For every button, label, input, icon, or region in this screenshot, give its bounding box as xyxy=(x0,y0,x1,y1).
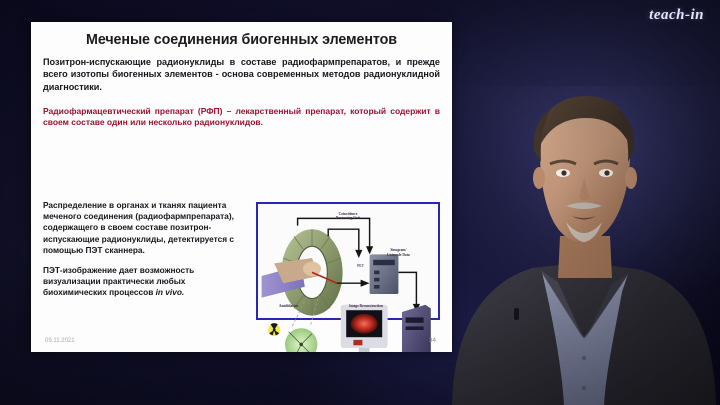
figure-label-annihilation: Annihilation xyxy=(279,304,298,308)
presentation-slide: Меченые соединения биогенных элементов П… xyxy=(31,22,452,352)
data-line xyxy=(398,272,416,304)
pet-diagram-graphic xyxy=(258,204,438,352)
shirt-button xyxy=(582,356,586,360)
tower-drive-bay xyxy=(406,326,424,330)
monitor-indicator xyxy=(353,340,362,345)
shirt-button xyxy=(582,386,586,390)
arrow-head xyxy=(355,250,362,258)
lapel-microphone xyxy=(514,308,519,320)
bullet-scanner-distribution: Распределение в органах и тканях пациент… xyxy=(43,200,248,256)
arrow-head xyxy=(366,246,373,254)
slide-footer-page-number: 34 xyxy=(429,337,436,344)
ear-right xyxy=(625,167,637,189)
slide-definition-paragraph: Радиофармацевтический препарат (РФП) – л… xyxy=(43,106,440,129)
pupil-left xyxy=(561,170,566,175)
slide-title: Меченые соединения биогенных элементов xyxy=(31,22,452,48)
pet-brain-image xyxy=(351,314,378,334)
bullet-pet-imaging: ПЭТ-изображение дает возможность визуали… xyxy=(43,265,248,299)
pupil-right xyxy=(604,170,609,175)
annihilation-inset-circle xyxy=(285,328,317,352)
annihilation-point xyxy=(299,343,303,347)
radiation-trefoil-icon xyxy=(268,323,280,336)
presenter-video-figure xyxy=(446,86,720,405)
slide-bullet-column: Распределение в органах и тканях пациент… xyxy=(43,200,248,326)
slide-lower-section: Распределение в органах и тканях пациент… xyxy=(43,200,440,326)
slide-intro-paragraph: Позитрон-испускающие радионуклиды в сост… xyxy=(43,56,440,93)
figure-label-image-reconstruction: Image Reconstruction xyxy=(349,304,383,308)
monitor-neck xyxy=(359,348,370,352)
tower-drive-bay xyxy=(406,317,424,322)
figure-label-sinogram-data: Sinogram/ Listmode Data xyxy=(387,248,410,257)
figure-label-pet: PET xyxy=(357,264,364,268)
arrow-head xyxy=(361,280,370,287)
figure-label-coincidence-unit: Coincidence Processing Unit xyxy=(336,212,360,221)
cpu-panel xyxy=(373,260,395,265)
pet-scanner-diagram: Coincidence Processing Unit Sinogram/ Li… xyxy=(256,202,440,320)
teach-in-logo: teach-in xyxy=(649,7,704,24)
ear-left xyxy=(533,167,545,189)
cpu-vents xyxy=(374,271,379,289)
patient-head xyxy=(303,262,321,276)
bullet-in-vivo-italic: in vivo. xyxy=(156,287,185,297)
slide-footer-date: 09.11.2021 xyxy=(45,338,75,344)
